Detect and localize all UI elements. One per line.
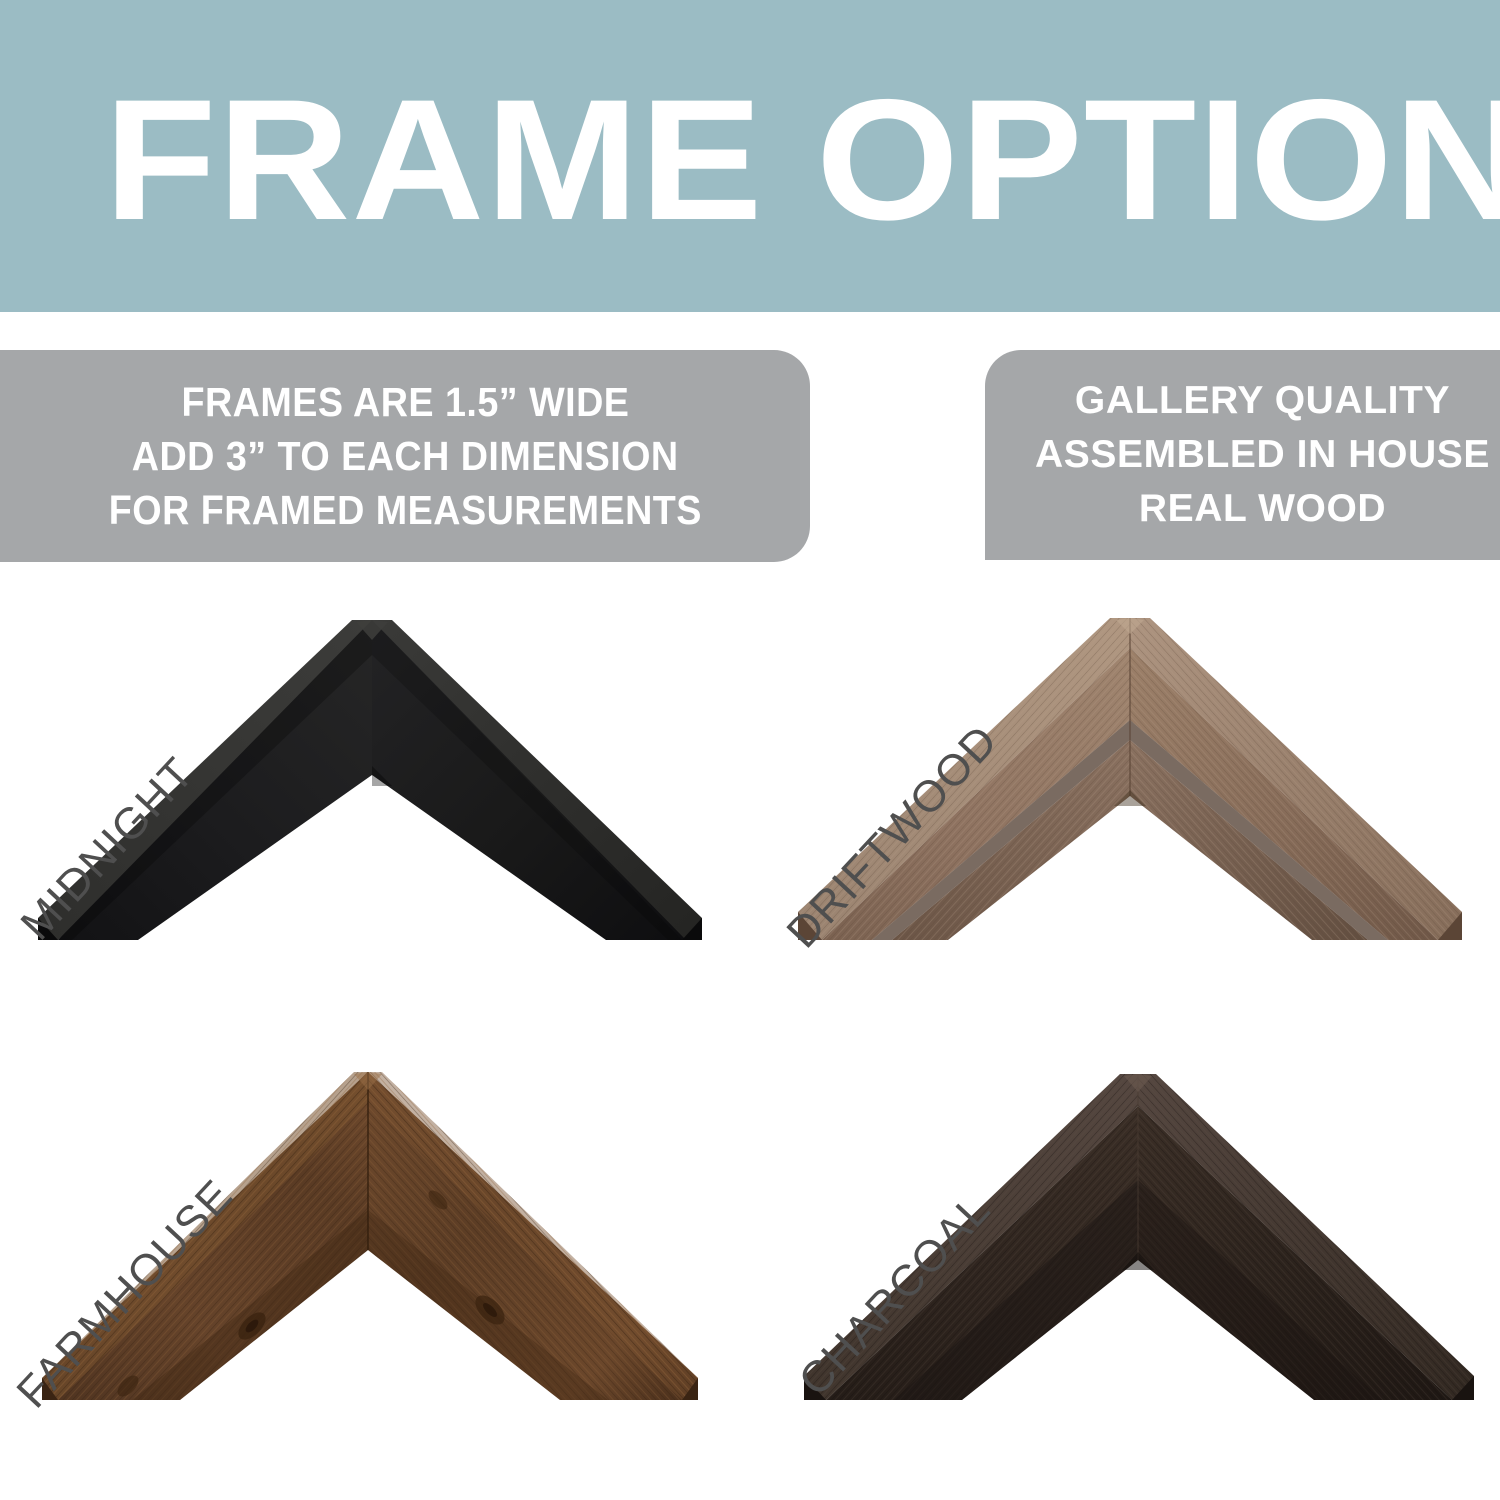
frame-option-farmhouse[interactable]: FARMHOUSE	[20, 1060, 720, 1460]
info-line: ADD 3” TO EACH DIMENSION	[132, 429, 679, 483]
frame-option-charcoal[interactable]: CHARCOAL	[790, 1060, 1490, 1460]
frame-option-midnight[interactable]: MIDNIGHT	[20, 600, 720, 1000]
info-line: GALLERY QUALITY	[1075, 374, 1450, 428]
info-pill-quality: GALLERY QUALITY ASSEMBLED IN HOUSE REAL …	[985, 350, 1500, 560]
info-line: FRAMES ARE 1.5” WIDE	[181, 375, 629, 429]
frame-corner-driftwood	[780, 600, 1480, 1000]
info-line: FOR FRAMED MEASUREMENTS	[108, 483, 701, 537]
info-pill-measurements: FRAMES ARE 1.5” WIDE ADD 3” TO EACH DIME…	[0, 350, 810, 562]
header-banner: FRAME OPTIONS	[0, 0, 1500, 312]
frame-option-driftwood[interactable]: DRIFTWOOD	[780, 600, 1480, 1000]
info-line: ASSEMBLED IN HOUSE	[1035, 428, 1490, 482]
page-title: FRAME OPTIONS	[104, 60, 1500, 260]
info-line: REAL WOOD	[1139, 482, 1386, 536]
